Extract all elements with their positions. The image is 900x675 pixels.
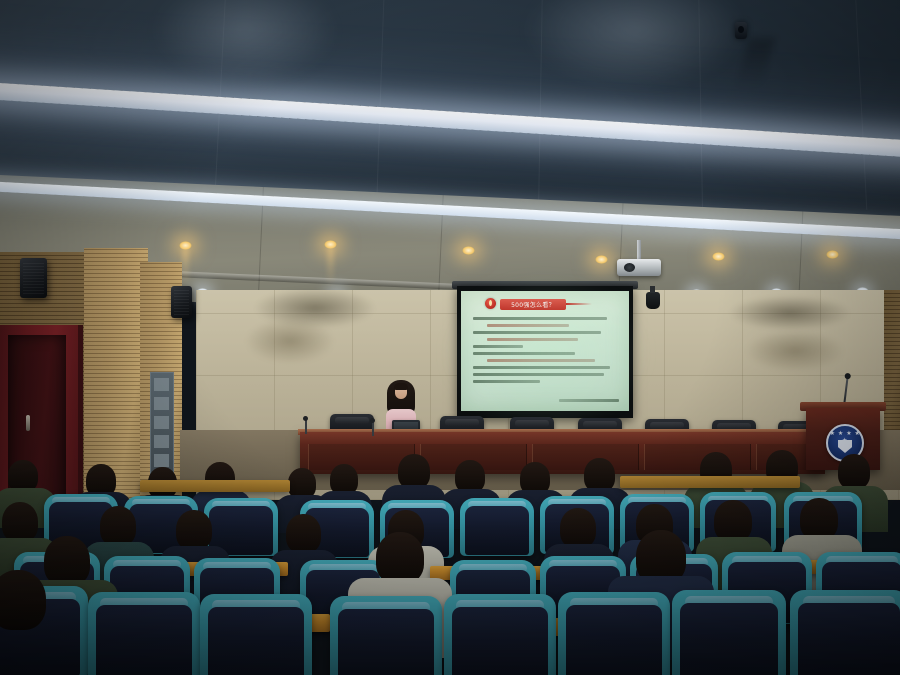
wall-stain [245, 318, 335, 364]
downlight-flare [328, 246, 333, 286]
wall-stain [730, 296, 850, 330]
wall-speaker-icon [20, 258, 47, 298]
attendee-head [286, 514, 321, 553]
auditorium-seat[interactable] [672, 590, 786, 675]
attendee-head [838, 454, 870, 489]
slide-title-text: 500强怎么看？ [511, 300, 555, 309]
slide-body [473, 317, 619, 387]
auditorium-seat[interactable] [330, 596, 442, 675]
projection-screen: 500强怎么看？ [461, 291, 629, 411]
presenter [383, 378, 419, 436]
door-handle[interactable] [26, 415, 30, 431]
wall-speaker-icon [171, 286, 192, 318]
attendee-head [714, 500, 752, 542]
table-microphone-icon [305, 419, 307, 434]
slide-title-banner: 500强怎么看？ [500, 299, 566, 310]
slide-title-underline [566, 303, 592, 305]
slide-logo-icon [485, 298, 496, 309]
attendee-head [398, 454, 430, 489]
wall-camera-icon [646, 292, 660, 309]
attendee-head [2, 502, 38, 542]
downlight-icon [826, 250, 839, 259]
attendee-head [100, 506, 136, 546]
attendee-head [560, 508, 596, 548]
desk [140, 480, 290, 492]
auditorium-photo: 500强怎么看？ [0, 0, 900, 675]
downlight-flare [183, 247, 188, 287]
attendee-head [800, 498, 838, 540]
presenter-fringe [394, 383, 408, 390]
audience-area [0, 440, 900, 675]
auditorium-seat[interactable] [558, 592, 670, 675]
attendee-head [44, 536, 90, 586]
downlight-icon [462, 246, 475, 255]
table-microphone-icon [372, 421, 374, 436]
attendee-head [376, 532, 424, 584]
ceiling-camera-icon [735, 22, 747, 39]
downlight-icon [595, 255, 608, 264]
auditorium-seat[interactable] [200, 594, 312, 675]
auditorium-seat[interactable] [88, 592, 200, 675]
attendee-head [176, 510, 212, 550]
projector-icon [617, 259, 661, 276]
auditorium-seat[interactable] [790, 590, 900, 675]
attendee-head [0, 570, 46, 630]
auditorium-seat[interactable] [444, 594, 556, 675]
downlight-icon [712, 252, 725, 261]
desk [620, 476, 800, 488]
auditorium-seat[interactable] [460, 498, 534, 556]
wall-stain [745, 330, 845, 372]
attendee-head [584, 458, 615, 492]
slide-signature-line [559, 399, 619, 402]
